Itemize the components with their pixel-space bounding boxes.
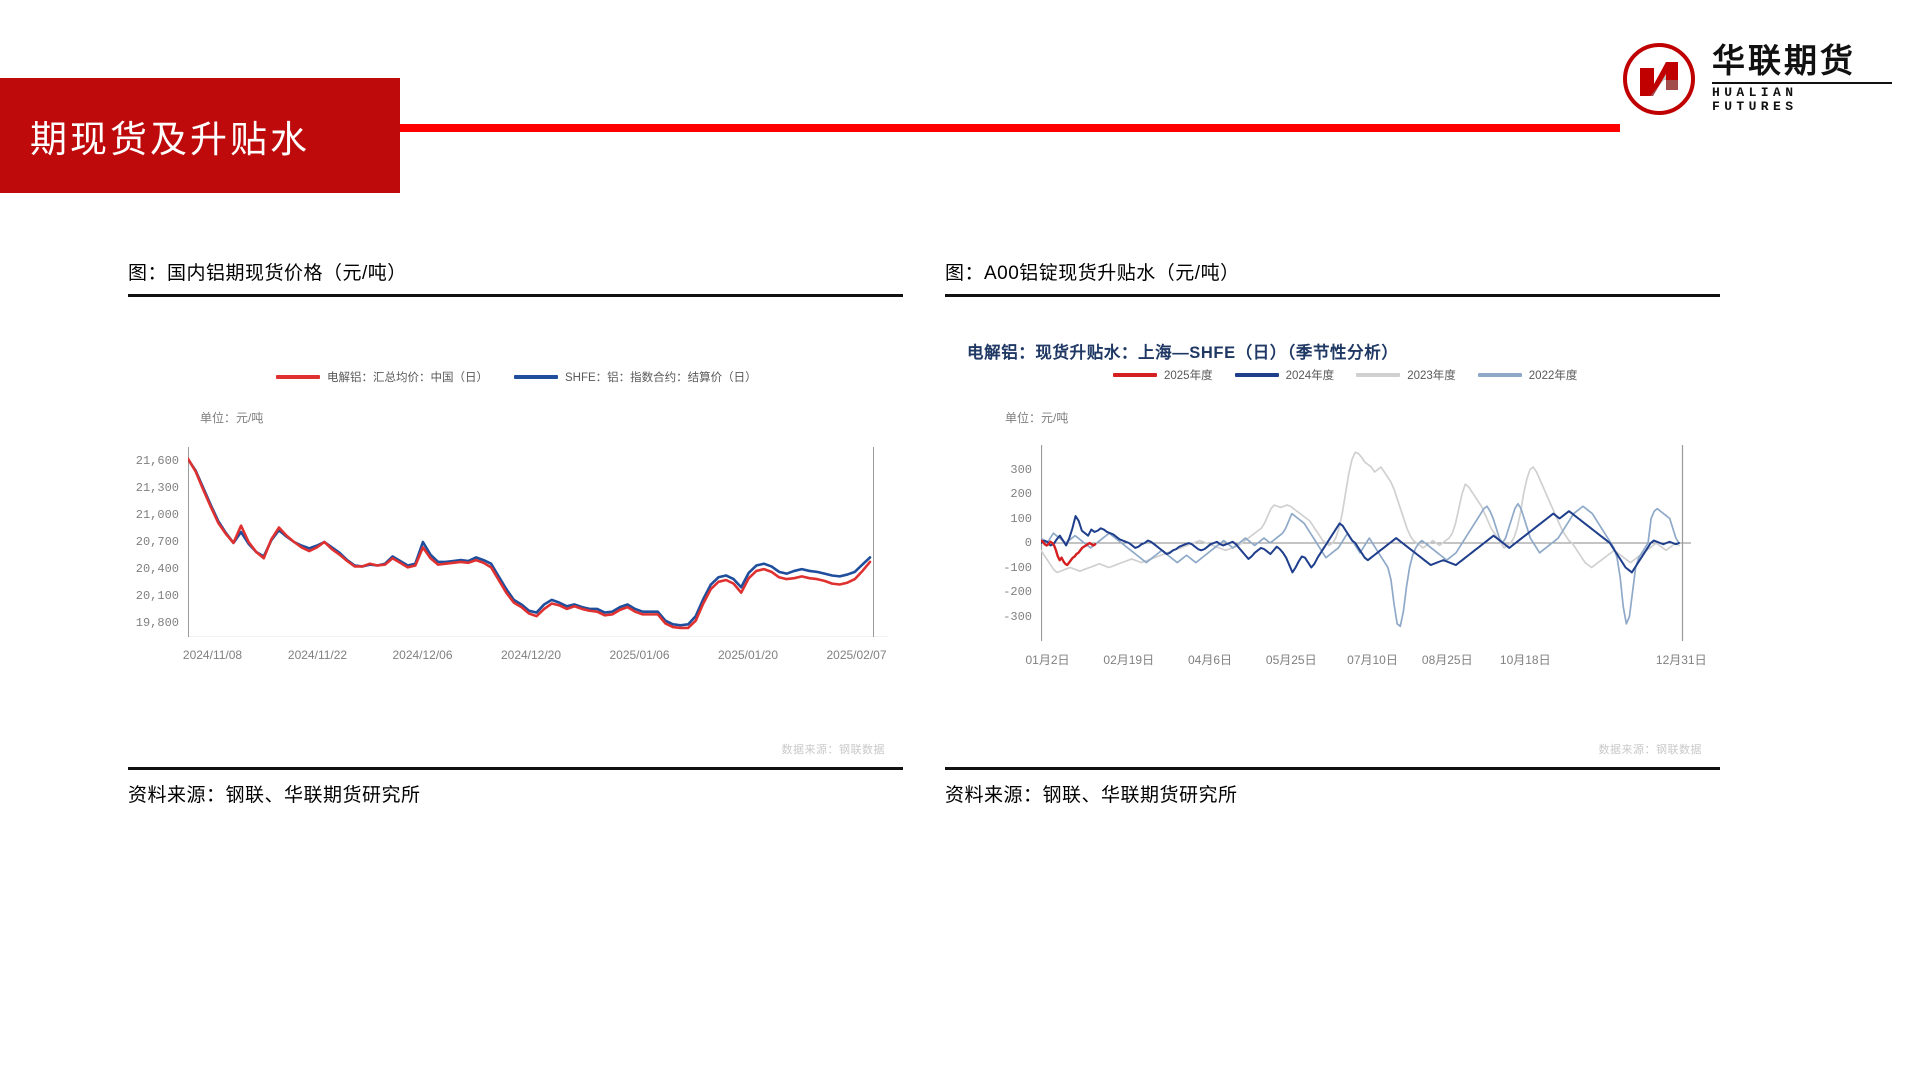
plot-area-left xyxy=(188,447,888,637)
y-tick-label: 21,300 xyxy=(128,481,179,495)
x-tick-label: 2024/11/22 xyxy=(288,648,347,662)
chart-legend-right: 2025年度 2024年度 2023年度 2022年度 xyxy=(1113,367,1577,383)
y-tick-label: 21,600 xyxy=(128,454,179,468)
logo-divider xyxy=(1712,82,1892,84)
x-tick-label: 2024/12/20 xyxy=(501,648,561,662)
x-tick-label: 01月2日 xyxy=(1025,651,1069,668)
x-tick-label: 02月19日 xyxy=(1103,651,1154,668)
x-tick-label: 08月25日 xyxy=(1422,651,1473,668)
section-title-banner: 期现货及升贴水 xyxy=(0,78,400,193)
company-logo: 华联期货 HUALIAN FUTURES xyxy=(1620,36,1892,122)
y-tick-label: 0 xyxy=(945,536,1032,550)
x-tick-label: 07月10日 xyxy=(1347,651,1398,668)
legend-label-2022: 2022年度 xyxy=(1529,367,1578,383)
y-tick-label: -300 xyxy=(945,610,1032,624)
logo-text-block: 华联期货 HUALIAN FUTURES xyxy=(1712,44,1892,114)
panel-title-right: 图：A00铝锭现货升贴水（元/吨） xyxy=(945,258,1720,294)
page-header: 期现货及升贴水 华联期货 HUALIAN FUTURES xyxy=(0,0,1920,200)
plot-area-right xyxy=(1041,445,1691,641)
hualian-n-mark-icon xyxy=(1620,40,1698,118)
legend-label-futures: SHFE：铝：指数合约：结算价（日） xyxy=(565,369,757,385)
y-tick-label: 300 xyxy=(945,463,1032,477)
y-tick-label: 200 xyxy=(945,487,1032,501)
y-tick-label: 100 xyxy=(945,512,1032,526)
x-tick-label: 04月6日 xyxy=(1188,651,1232,668)
y-tick-label: 20,100 xyxy=(128,589,179,603)
logo-chinese-name: 华联期货 xyxy=(1712,44,1892,79)
panel-title-left: 图：国内铝期现货价格（元/吨） xyxy=(128,258,903,294)
chart-legend-left: 电解铝：汇总均价：中国（日） SHFE：铝：指数合约：结算价（日） xyxy=(276,369,757,385)
legend-item-2023[interactable]: 2023年度 xyxy=(1356,367,1456,383)
legend-swatch-2023 xyxy=(1356,373,1400,377)
plot-svg-left xyxy=(188,447,888,637)
chart-watermark-right: 数据来源：钢联数据 xyxy=(1599,741,1703,757)
x-tick-label: 12月31日 xyxy=(1656,651,1707,668)
legend-item-2022[interactable]: 2022年度 xyxy=(1478,367,1578,383)
aluminum-premium-chart: 电解铝：现货升贴水：上海—SHFE（日）（季节性分析） 2025年度 2024年… xyxy=(945,297,1720,767)
legend-swatch-2024 xyxy=(1235,373,1279,377)
aluminum-price-chart: 电解铝：汇总均价：中国（日） SHFE：铝：指数合约：结算价（日） 单位：元/吨… xyxy=(128,297,903,767)
x-tick-label: 05月25日 xyxy=(1266,651,1317,668)
x-tick-label: 2024/11/08 xyxy=(183,648,242,662)
unit-label-left: 单位：元/吨 xyxy=(200,409,263,426)
x-tick-label: 2025/01/20 xyxy=(718,648,778,662)
header-red-rule xyxy=(400,124,1620,132)
section-title-text: 期现货及升贴水 xyxy=(30,109,310,163)
y-tick-label: 20,400 xyxy=(128,562,179,576)
x-tick-label: 10月18日 xyxy=(1500,651,1551,668)
legend-item-futures[interactable]: SHFE：铝：指数合约：结算价（日） xyxy=(514,369,757,385)
plot-svg-right xyxy=(1041,445,1691,641)
legend-item-2025[interactable]: 2025年度 xyxy=(1113,367,1213,383)
y-tick-label: 20,700 xyxy=(128,535,179,549)
legend-swatch-spot xyxy=(276,375,320,379)
legend-item-2024[interactable]: 2024年度 xyxy=(1235,367,1335,383)
x-tick-label: 2025/01/06 xyxy=(609,648,669,662)
panel-source-right: 资料来源：钢联、华联期货研究所 xyxy=(945,770,1720,807)
chart-panel-spot-futures-price: 图：国内铝期现货价格（元/吨） 电解铝：汇总均价：中国（日） SHFE：铝：指数… xyxy=(128,258,903,807)
legend-item-spot[interactable]: 电解铝：汇总均价：中国（日） xyxy=(276,369,488,385)
chart-watermark-left: 数据来源：钢联数据 xyxy=(782,741,886,757)
x-tick-label: 2025/02/07 xyxy=(826,648,886,662)
legend-label-2024: 2024年度 xyxy=(1286,367,1335,383)
legend-label-2023: 2023年度 xyxy=(1407,367,1456,383)
panel-source-left: 资料来源：钢联、华联期货研究所 xyxy=(128,770,903,807)
chart-subtitle-right: 电解铝：现货升贴水：上海—SHFE（日）（季节性分析） xyxy=(967,339,1398,363)
y-tick-label: 21,000 xyxy=(128,508,179,522)
legend-swatch-futures xyxy=(514,375,558,379)
x-tick-label: 2024/12/06 xyxy=(392,648,452,662)
legend-swatch-2025 xyxy=(1113,373,1157,377)
legend-label-2025: 2025年度 xyxy=(1164,367,1213,383)
legend-swatch-2022 xyxy=(1478,373,1522,377)
logo-english-name: HUALIAN FUTURES xyxy=(1712,86,1892,115)
chart-panel-spot-premium: 图：A00铝锭现货升贴水（元/吨） 电解铝：现货升贴水：上海—SHFE（日）（季… xyxy=(945,258,1720,807)
y-tick-label: 19,800 xyxy=(128,616,179,630)
y-tick-label: -100 xyxy=(945,561,1032,575)
y-tick-label: -200 xyxy=(945,585,1032,599)
unit-label-right: 单位：元/吨 xyxy=(1005,409,1068,426)
legend-label-spot: 电解铝：汇总均价：中国（日） xyxy=(327,369,488,385)
